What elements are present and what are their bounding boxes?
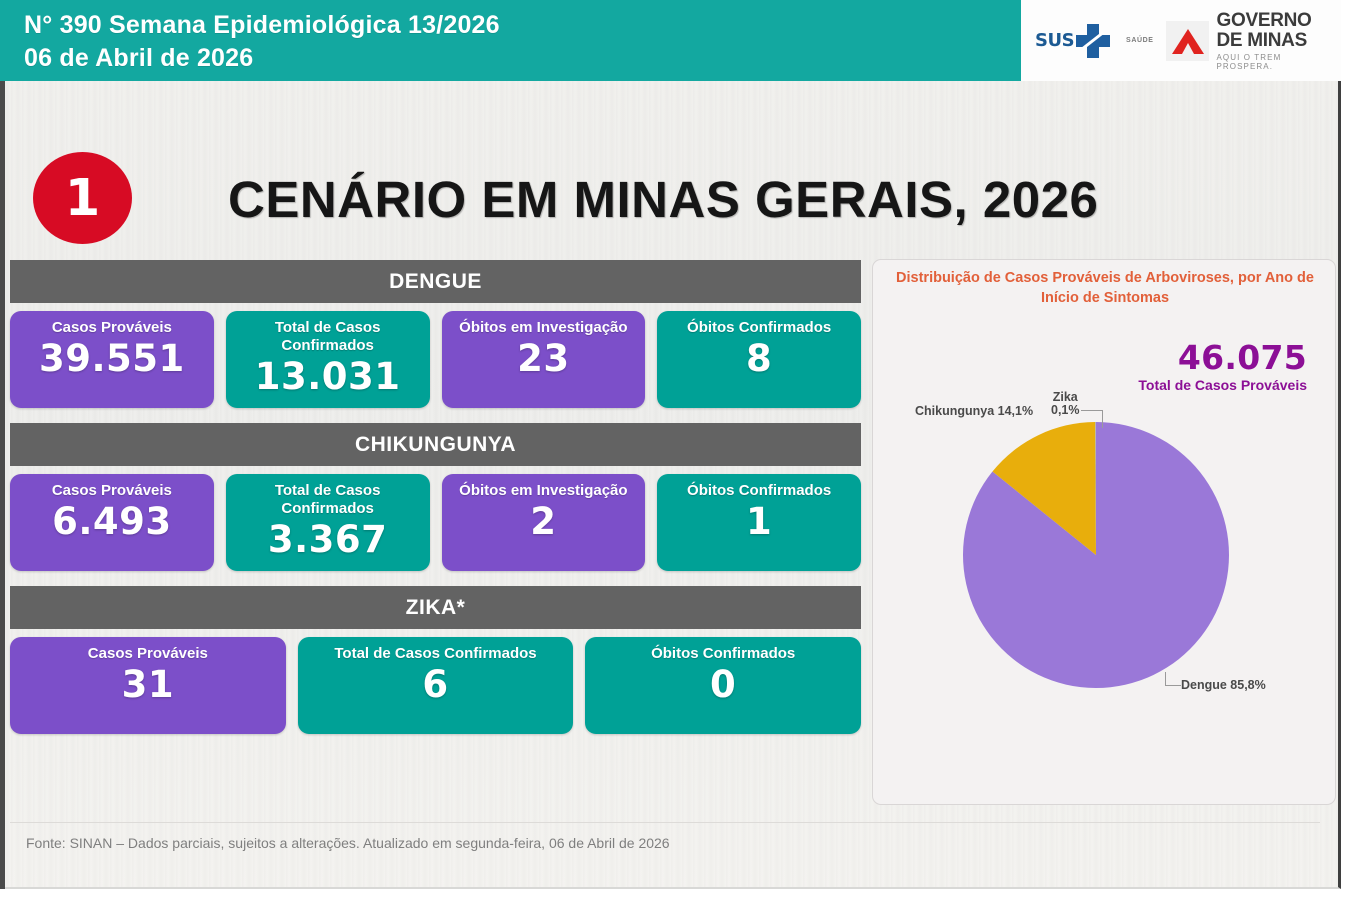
chart-title: Distribuição de Casos Prováveis de Arbov… — [887, 268, 1323, 308]
disease-header: CHIKUNGUNYA — [10, 423, 861, 466]
header-banner: N° 390 Semana Epidemiológica 13/2026 06 … — [0, 0, 1021, 81]
saude-label: SAÚDE — [1126, 37, 1154, 44]
metric-card-label: Óbitos em Investigação — [459, 482, 627, 500]
metric-card[interactable]: Total de Casos Confirmados6 — [298, 637, 574, 734]
metric-card-value: 1 — [746, 502, 772, 542]
disease-blocks-column: DENGUECasos Prováveis39.551Total de Caso… — [10, 260, 861, 749]
zika-leader-line — [1081, 410, 1103, 428]
footer-divider — [10, 822, 1320, 823]
metric-card-value: 3.367 — [268, 520, 388, 560]
metric-card-value: 31 — [122, 665, 175, 705]
metric-card[interactable]: Óbitos Confirmados0 — [585, 637, 861, 734]
metric-card[interactable]: Óbitos Confirmados1 — [657, 474, 861, 571]
metric-card-label: Óbitos Confirmados — [687, 319, 831, 337]
metric-card-value: 6 — [422, 665, 448, 705]
metric-card[interactable]: Óbitos em Investigação2 — [442, 474, 646, 571]
metric-card-label: Total de Casos Confirmados — [232, 319, 424, 355]
metric-card-label: Óbitos Confirmados — [651, 645, 795, 663]
metric-card-label: Total de Casos Confirmados — [334, 645, 536, 663]
metric-card-label: Casos Prováveis — [88, 645, 208, 663]
disease-header: ZIKA* — [10, 586, 861, 629]
disease-block: CHIKUNGUNYACasos Prováveis6.493Total de … — [10, 423, 861, 571]
metric-card[interactable]: Casos Prováveis31 — [10, 637, 286, 734]
slide-root: N° 390 Semana Epidemiológica 13/2026 06 … — [0, 0, 1357, 924]
metric-card-value: 13.031 — [255, 357, 401, 397]
sus-logo: SUS — [1035, 24, 1110, 58]
metric-card[interactable]: Casos Prováveis6.493 — [10, 474, 214, 571]
header-logos: SUS SAÚDE GOVERNO DE MINAS AQUI O TREM P… — [1021, 0, 1341, 81]
metric-card[interactable]: Óbitos Confirmados8 — [657, 311, 861, 408]
pie-label-dengue: Dengue 85,8% — [1181, 678, 1266, 692]
minas-triangle-icon — [1166, 21, 1210, 61]
metric-card-label: Óbitos Confirmados — [687, 482, 831, 500]
pie-label-chikungunya: Chikungunya 14,1% — [915, 404, 1033, 418]
health-cross-icon — [1076, 24, 1110, 58]
disease-block: DENGUECasos Prováveis39.551Total de Caso… — [10, 260, 861, 408]
metric-card[interactable]: Total de Casos Confirmados13.031 — [226, 311, 430, 408]
header-line-1: N° 390 Semana Epidemiológica 13/2026 — [24, 9, 1021, 42]
pie-chart — [961, 420, 1231, 690]
metric-card-label: Casos Prováveis — [52, 319, 172, 337]
disease-block: ZIKA*Casos Prováveis31Total de Casos Con… — [10, 586, 861, 734]
dengue-leader-line — [1165, 672, 1181, 686]
metric-card-label: Óbitos em Investigação — [459, 319, 627, 337]
metric-cards-row: Casos Prováveis6.493Total de Casos Confi… — [10, 474, 861, 571]
sus-logo-text: SUS — [1035, 30, 1074, 51]
page-title: CENÁRIO EM MINAS GERAIS, 2026 — [228, 170, 1098, 229]
board-left-edge — [0, 80, 5, 889]
pie-chart-svg — [961, 420, 1231, 690]
pie-label-zika-pct: 0,1% — [1051, 404, 1080, 417]
gov-tagline: AQUI O TREM PROSPERA. — [1216, 53, 1341, 71]
gov-text-block: GOVERNO DE MINAS AQUI O TREM PROSPERA. — [1216, 11, 1341, 71]
header-line-2: 06 de Abril de 2026 — [24, 42, 1021, 75]
metric-card-value: 2 — [530, 502, 556, 542]
chart-total-value: 46.075 — [1178, 338, 1307, 377]
pie-label-zika: Zika 0,1% — [1051, 391, 1080, 417]
metric-card-value: 39.551 — [39, 339, 185, 379]
metric-card-value: 23 — [517, 339, 570, 379]
metric-card-value: 8 — [746, 339, 772, 379]
gov-line-1: GOVERNO — [1216, 11, 1341, 31]
metric-card[interactable]: Casos Prováveis39.551 — [10, 311, 214, 408]
footer-source-note: Fonte: SINAN – Dados parciais, sujeitos … — [26, 835, 670, 851]
section-number-badge: 1 — [33, 152, 132, 244]
metric-card[interactable]: Total de Casos Confirmados3.367 — [226, 474, 430, 571]
arbovirus-distribution-chart-panel: Distribuição de Casos Prováveis de Arbov… — [872, 259, 1336, 805]
governo-de-minas-logo: GOVERNO DE MINAS AQUI O TREM PROSPERA. — [1166, 11, 1341, 71]
metric-cards-row: Casos Prováveis39.551Total de Casos Conf… — [10, 311, 861, 408]
metric-card-value: 6.493 — [52, 502, 172, 542]
gov-line-2: DE MINAS — [1216, 31, 1341, 51]
metric-card-value: 0 — [710, 665, 736, 705]
disease-header: DENGUE — [10, 260, 861, 303]
metric-card-label: Total de Casos Confirmados — [232, 482, 424, 518]
metric-card-label: Casos Prováveis — [52, 482, 172, 500]
metric-card[interactable]: Óbitos em Investigação23 — [442, 311, 646, 408]
metric-cards-row: Casos Prováveis31Total de Casos Confirma… — [10, 637, 861, 734]
chart-total-label: Total de Casos Prováveis — [1138, 377, 1307, 393]
